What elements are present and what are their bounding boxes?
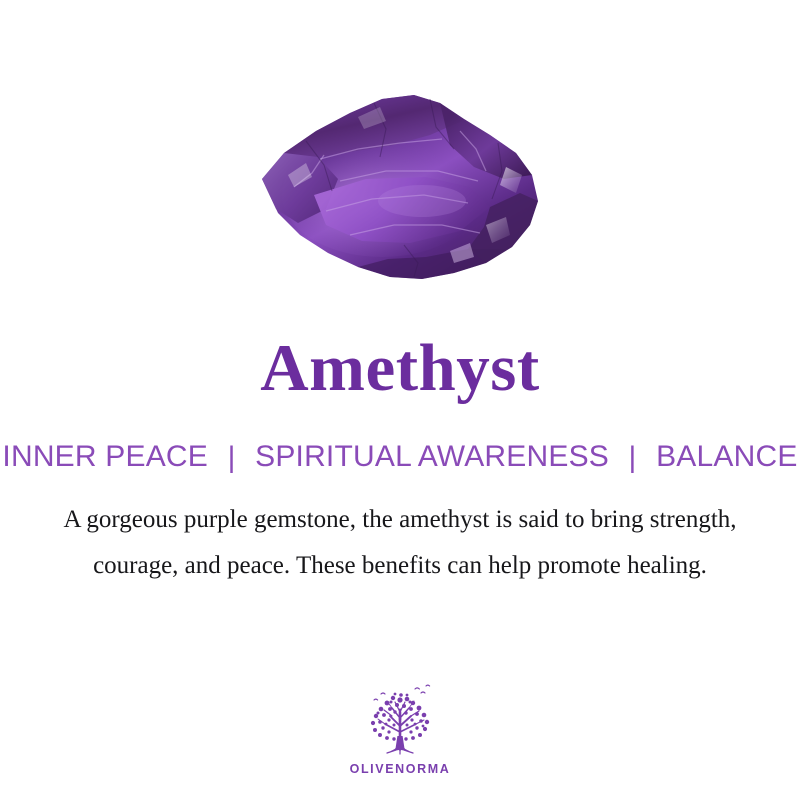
brand-wordmark: OLIVENORMA — [350, 762, 451, 776]
keyword-separator: | — [618, 441, 648, 476]
amethyst-image — [254, 83, 546, 298]
keyword-separator: | — [217, 441, 247, 476]
amethyst-info-card: Amethyst INNER PEACE | SPIRITUAL AWARENE… — [0, 0, 800, 800]
keyword-row: INNER PEACE | SPIRITUAL AWARENESS | BALA… — [0, 440, 800, 475]
birds-icon — [374, 685, 430, 700]
brand-logo: OLIVENORMA — [0, 678, 800, 776]
gemstone-hero — [0, 78, 800, 303]
tree-of-life-icon — [357, 678, 443, 760]
raw-amethyst-crystal-icon — [254, 83, 546, 298]
page-title: Amethyst — [0, 333, 800, 403]
description-text: A gorgeous purple gemstone, the amethyst… — [50, 497, 750, 589]
keyword-balance: BALANCE — [656, 440, 797, 473]
keyword-spiritual-awareness: SPIRITUAL AWARENESS — [255, 440, 609, 473]
keyword-inner-peace: INNER PEACE — [2, 440, 208, 473]
